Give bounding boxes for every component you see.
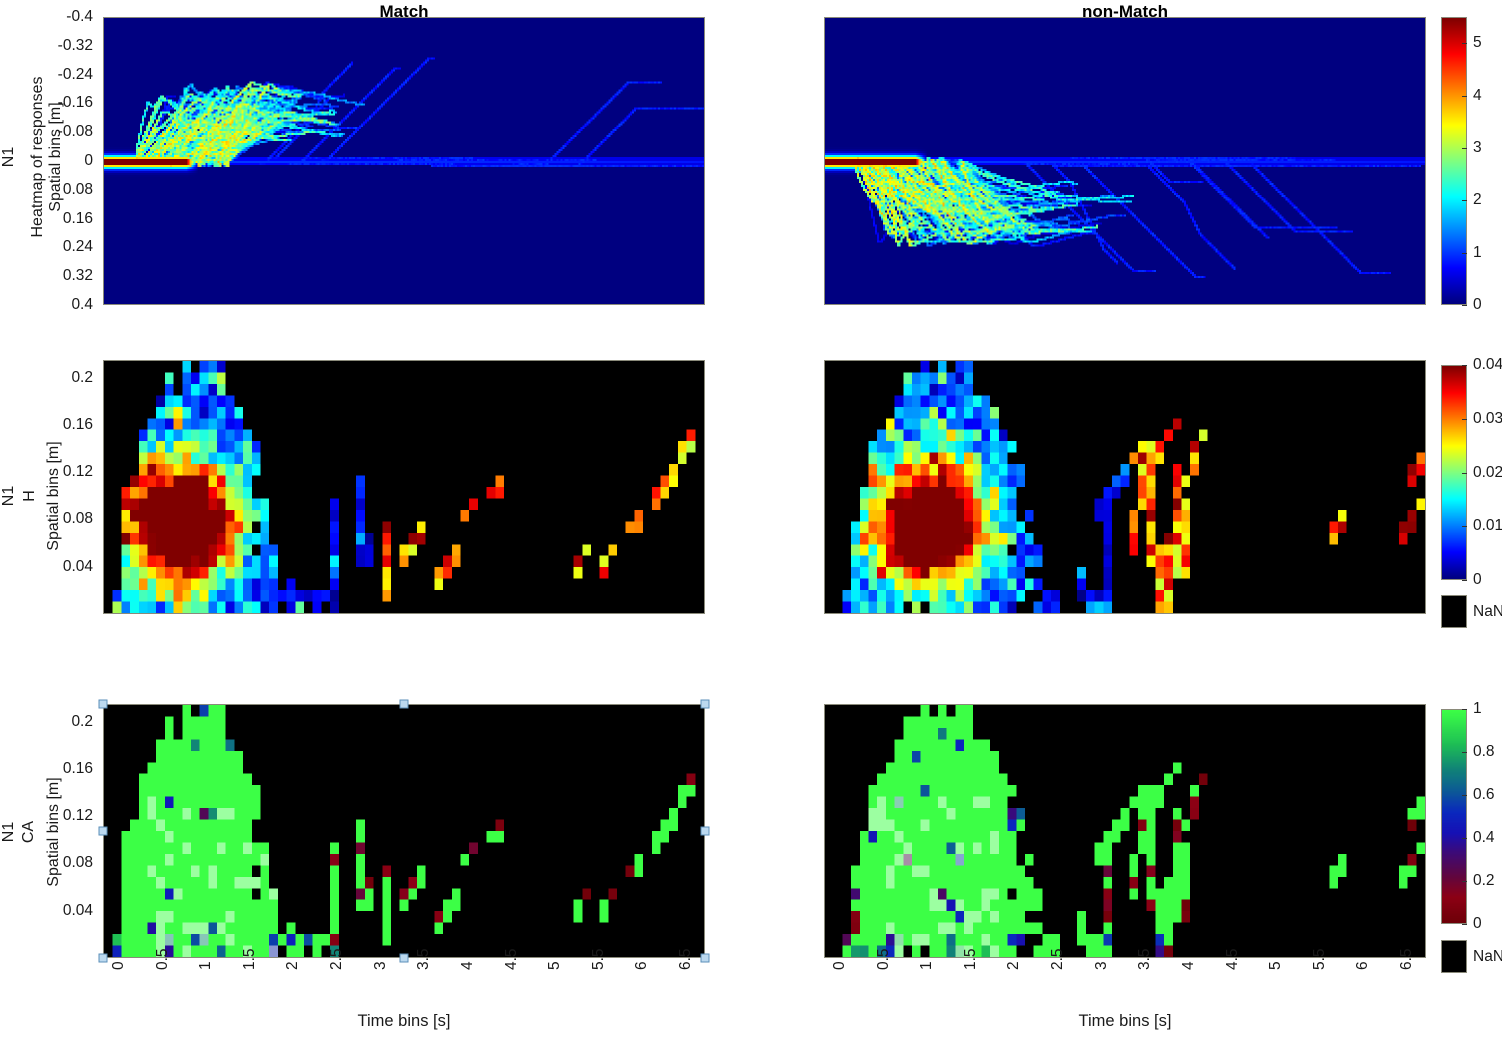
- colorbar-tick-label: 2: [1473, 191, 1482, 209]
- colorbar-tick-label: 4: [1473, 87, 1482, 105]
- selection-handle[interactable]: [99, 954, 108, 963]
- colorbar-tick-mark: [1462, 253, 1467, 254]
- colorbar-tick-mark: [1462, 709, 1467, 710]
- y-tick-label: -0.08: [37, 123, 93, 141]
- x-tick-label: 3: [372, 961, 390, 970]
- colorbar-tick-label: 1: [1473, 244, 1482, 262]
- colorbar-tick-label: 0.8: [1473, 743, 1495, 761]
- row-sublabel-CA: CA: [20, 810, 38, 854]
- colorbar-tick-mark: [1462, 838, 1467, 839]
- colorbar-tick-label: 0.2: [1473, 872, 1495, 890]
- row-label-CA-n1: N1: [0, 810, 18, 854]
- x-tick-label: 0.5: [875, 948, 893, 970]
- figure-canvas: Match non-Match N1 Heatmap of responses …: [0, 0, 1502, 1045]
- y-tick-label: 0.16: [37, 210, 93, 228]
- colorbar-tick-mark: [1462, 881, 1467, 882]
- colorbar-tick-mark: [1462, 473, 1467, 474]
- selection-handle[interactable]: [400, 700, 409, 709]
- selection-handle[interactable]: [701, 700, 710, 709]
- x-tick-label: 6.5: [1398, 948, 1416, 970]
- y-tick-label: 0.04: [37, 558, 93, 576]
- y-tick-label: 0.16: [37, 760, 93, 778]
- x-tick-label: 2: [1005, 961, 1023, 970]
- colorbar-responses[interactable]: [1441, 17, 1467, 305]
- panel-CA-match[interactable]: [103, 704, 705, 958]
- colorbar-tick-label: 0.03: [1473, 410, 1502, 428]
- x-tick-label: 6: [1354, 961, 1372, 970]
- y-tick-label: 0.12: [37, 807, 93, 825]
- colorbar-tick-label: 0: [1473, 915, 1482, 933]
- x-tick-label: 1.5: [962, 948, 980, 970]
- nan-label-H: NaN: [1473, 603, 1502, 621]
- y-tick-label: 0.24: [37, 238, 93, 256]
- y-tick-label: 0.04: [37, 902, 93, 920]
- y-tick-label: 0.08: [37, 854, 93, 872]
- x-tick-label: 5: [546, 961, 564, 970]
- colorbar-tick-label: 3: [1473, 139, 1482, 157]
- x-axis-label-match: Time bins [s]: [103, 1012, 705, 1031]
- x-tick-label: 5.5: [1311, 948, 1329, 970]
- x-tick-label: 0: [831, 961, 849, 970]
- y-tick-label: -0.16: [37, 94, 93, 112]
- x-tick-label: 3.5: [1136, 948, 1154, 970]
- x-tick-label: 5: [1267, 961, 1285, 970]
- x-tick-label: 6.5: [677, 948, 695, 970]
- x-tick-label: 2.5: [328, 948, 346, 970]
- y-tick-label: 0.08: [37, 510, 93, 528]
- row-label-responses-n1: N1: [0, 135, 18, 179]
- colorbar-tick-label: 1: [1473, 700, 1482, 718]
- y-tick-label: -0.24: [37, 66, 93, 84]
- colorbar-tick-mark: [1462, 96, 1467, 97]
- colorbar-tick-label: 5: [1473, 34, 1482, 52]
- selection-handle[interactable]: [701, 954, 710, 963]
- x-axis-label-nonmatch: Time bins [s]: [824, 1012, 1426, 1031]
- colorbar-tick-mark: [1462, 752, 1467, 753]
- x-tick-label: 0.5: [154, 948, 172, 970]
- x-tick-label: 1: [197, 961, 215, 970]
- colorbar-tick-mark: [1462, 924, 1467, 925]
- x-tick-label: 4.5: [503, 948, 521, 970]
- colorbar-tick-label: 0: [1473, 296, 1482, 314]
- y-tick-label: -0.4: [37, 8, 93, 26]
- colorbar-tick-mark: [1462, 148, 1467, 149]
- y-tick-label: 0: [37, 152, 93, 170]
- y-tick-label: 0.2: [37, 369, 93, 387]
- nan-label-CA: NaN: [1473, 948, 1502, 966]
- nan-swatch-H: [1441, 595, 1467, 628]
- x-tick-label: 2: [284, 961, 302, 970]
- selection-handle[interactable]: [99, 827, 108, 836]
- x-tick-label: 1: [918, 961, 936, 970]
- x-tick-label: 5.5: [590, 948, 608, 970]
- colorbar-tick-mark: [1462, 365, 1467, 366]
- y-tick-label: -0.32: [37, 37, 93, 55]
- x-tick-label: 4: [1180, 961, 1198, 970]
- panel-responses-match[interactable]: [103, 17, 705, 305]
- y-tick-label: 0.32: [37, 267, 93, 285]
- x-tick-label: 4: [459, 961, 477, 970]
- y-tick-label: 0.16: [37, 416, 93, 434]
- x-tick-label: 6: [633, 961, 651, 970]
- selection-handle[interactable]: [99, 700, 108, 709]
- row-label-H-n1: N1: [0, 474, 18, 518]
- y-tick-label: 0.12: [37, 463, 93, 481]
- y-tick-label: 0.2: [37, 713, 93, 731]
- panel-responses-nonmatch[interactable]: [824, 17, 1426, 305]
- colorbar-tick-mark: [1462, 43, 1467, 44]
- colorbar-CA[interactable]: [1441, 709, 1467, 924]
- colorbar-tick-mark: [1462, 580, 1467, 581]
- y-axis-label-row2: Spatial bins [m]: [45, 416, 63, 576]
- x-tick-label: 4.5: [1224, 948, 1242, 970]
- nan-swatch-CA: [1441, 940, 1467, 973]
- panel-H-match[interactable]: [103, 360, 705, 614]
- colorbar-tick-mark: [1462, 526, 1467, 527]
- colorbar-tick-label: 0.6: [1473, 786, 1495, 804]
- colorbar-tick-mark: [1462, 419, 1467, 420]
- colorbar-tick-label: 0.04: [1473, 356, 1502, 374]
- colorbar-tick-label: 0: [1473, 571, 1482, 589]
- y-tick-label: 0.4: [37, 296, 93, 314]
- panel-CA-nonmatch[interactable]: [824, 704, 1426, 958]
- x-tick-label: 3: [1093, 961, 1111, 970]
- selection-handle[interactable]: [701, 827, 710, 836]
- x-tick-label: 3.5: [415, 948, 433, 970]
- colorbar-tick-mark: [1462, 305, 1467, 306]
- selection-handle[interactable]: [400, 954, 409, 963]
- colorbar-tick-label: 0.02: [1473, 464, 1502, 482]
- colorbar-tick-label: 0.4: [1473, 829, 1495, 847]
- x-tick-label: 2.5: [1049, 948, 1067, 970]
- colorbar-tick-mark: [1462, 200, 1467, 201]
- colorbar-tick-label: 0.01: [1473, 517, 1502, 535]
- colorbar-tick-mark: [1462, 795, 1467, 796]
- x-tick-label: 0: [110, 961, 128, 970]
- x-tick-label: 1.5: [241, 948, 259, 970]
- y-tick-label: 0.08: [37, 181, 93, 199]
- panel-H-nonmatch[interactable]: [824, 360, 1426, 614]
